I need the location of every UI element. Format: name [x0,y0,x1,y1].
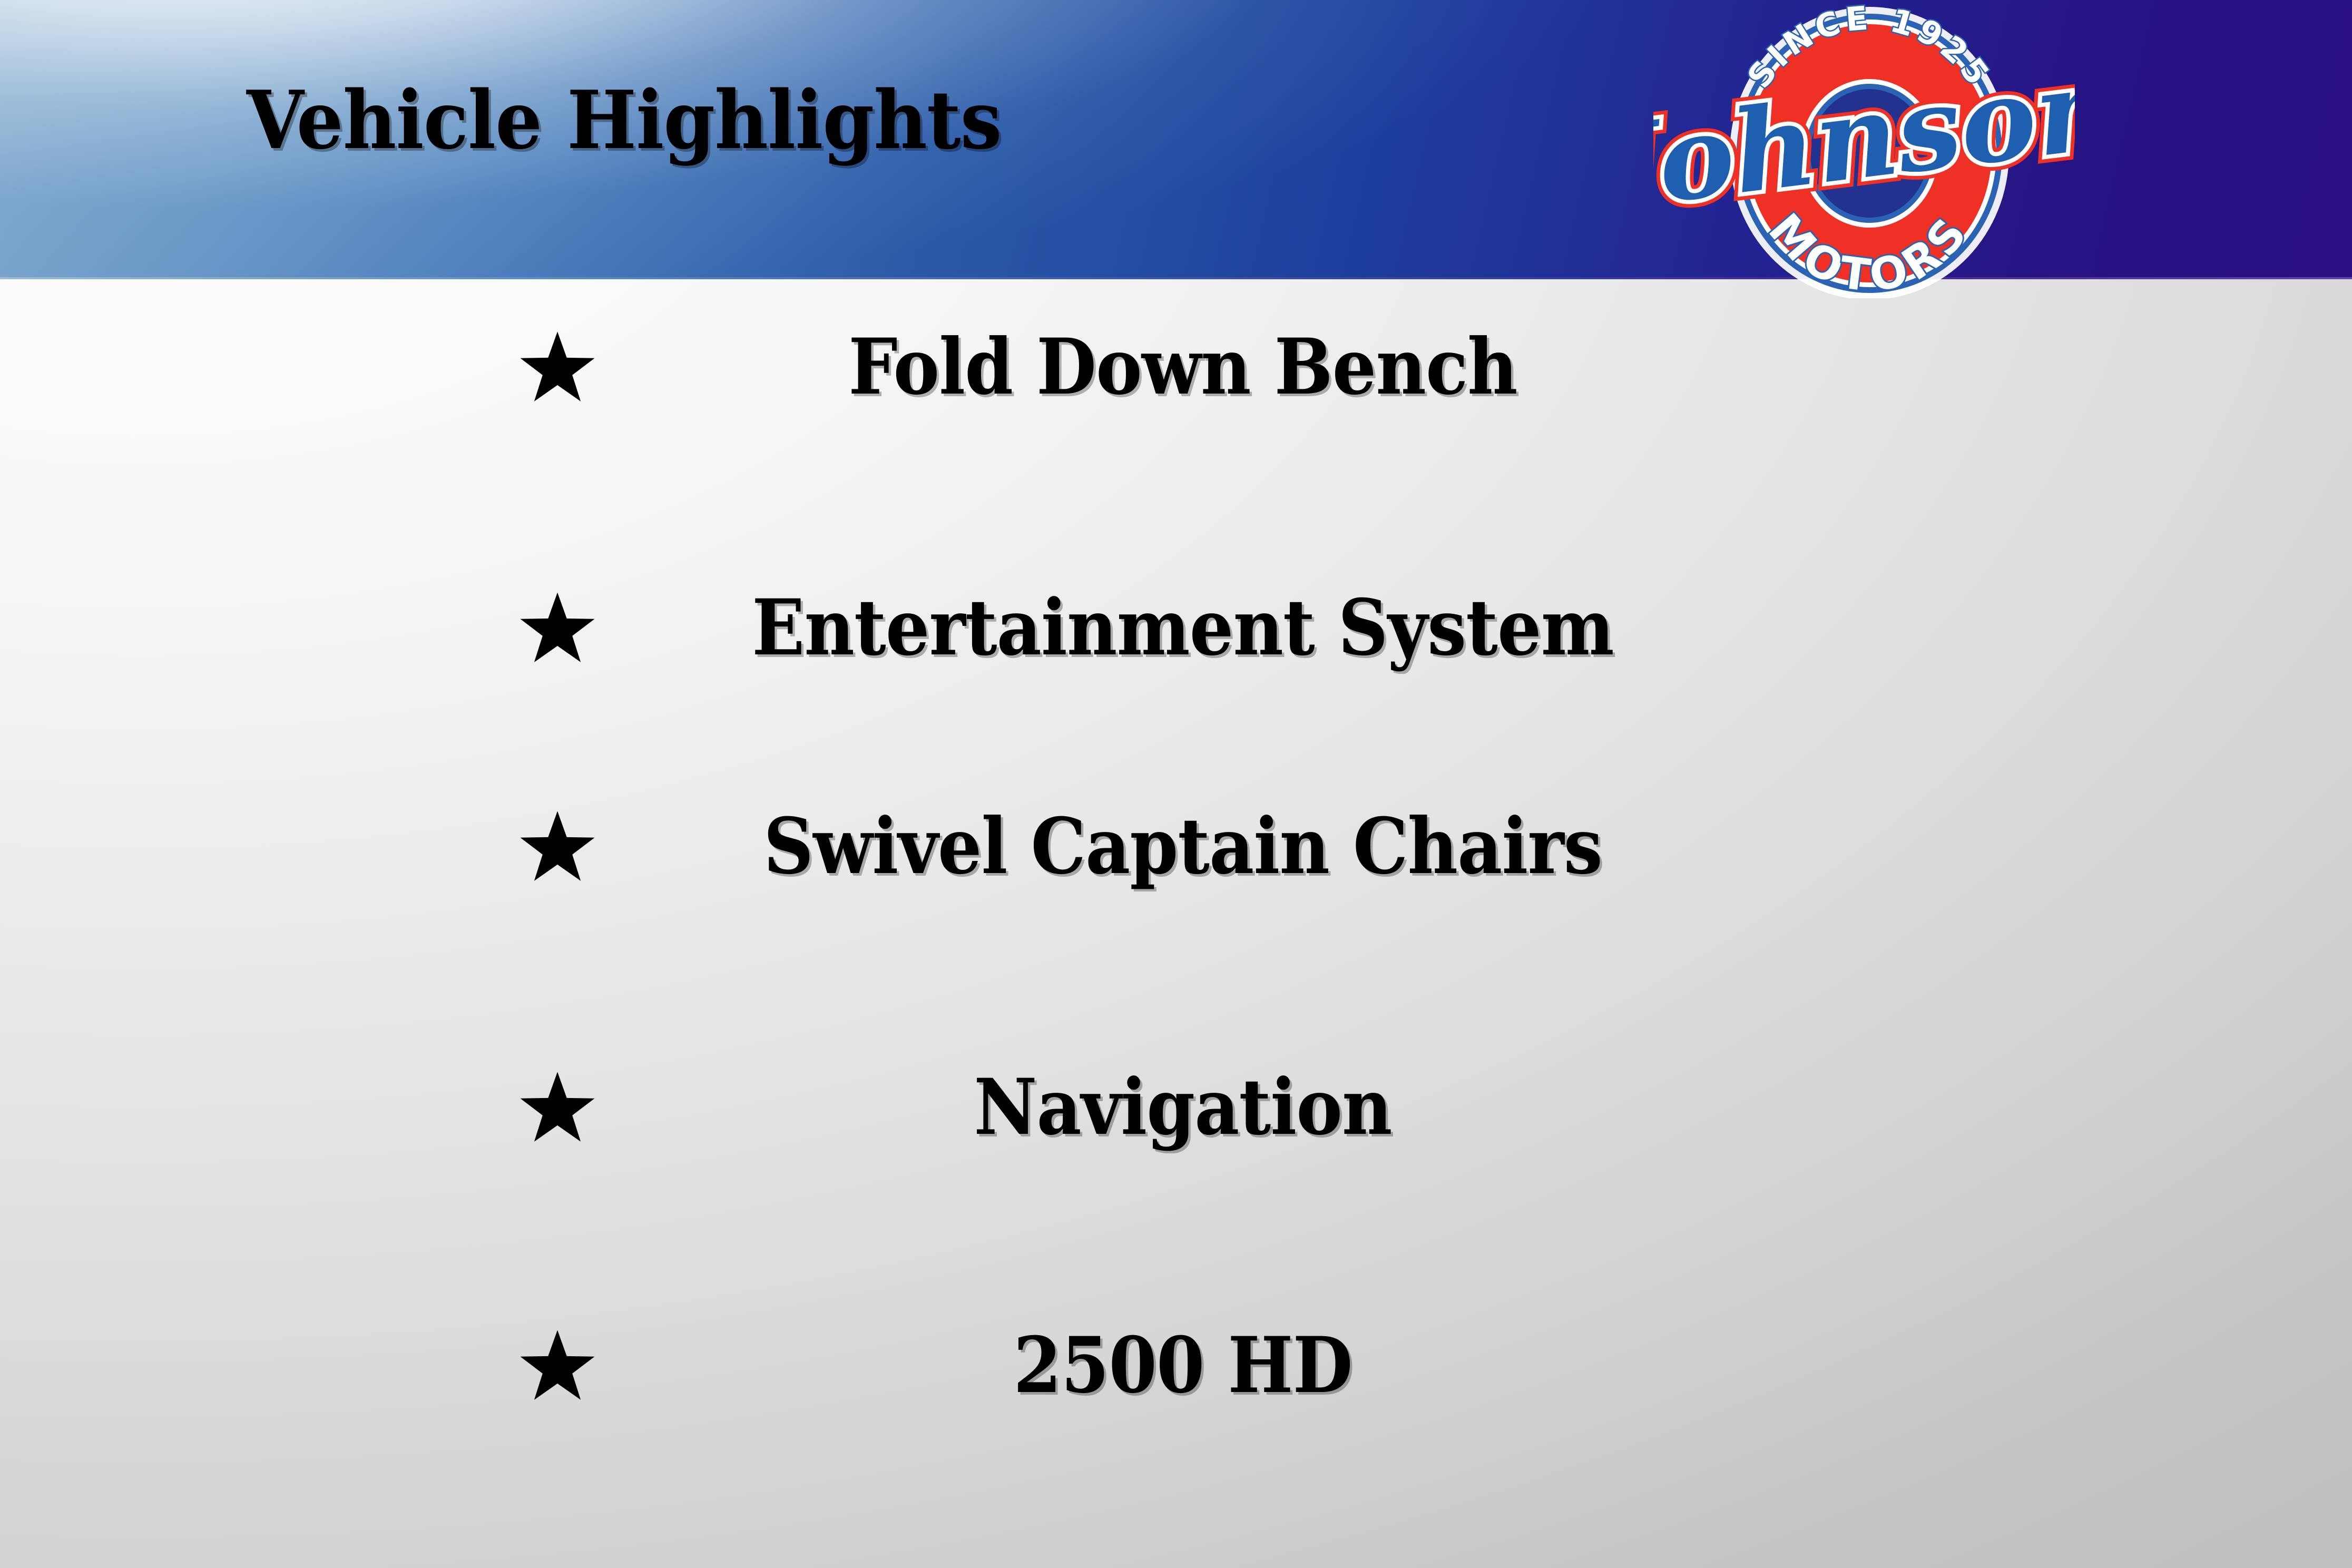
star-icon [518,1328,597,1407]
star-icon [518,809,597,888]
page-title: Vehicle Highlights [247,80,1002,160]
list-item-label: Entertainment System [709,586,1657,671]
list-item-label: Navigation [709,1065,1657,1150]
highlights-list: Fold Down Bench Entertainment System Swi… [0,279,2352,1568]
star-icon [518,590,597,669]
list-item: Navigation [0,1070,2352,1175]
list-item-label: 2500 HD [709,1324,1657,1408]
list-item: Fold Down Bench [0,329,2352,435]
list-item: 2500 HD [0,1328,2352,1433]
list-item: Entertainment System [0,590,2352,695]
star-icon [518,329,597,408]
star-icon [518,1070,597,1149]
list-item-label: Fold Down Bench [709,325,1657,410]
list-item: Swivel Captain Chairs [0,809,2352,914]
list-item-label: Swivel Captain Chairs [709,805,1657,889]
slide-canvas: Vehicle Highlights SINCE 1925 [0,0,2352,1568]
johnson-motors-logo: SINCE 1925 MOTORS Johnson Johnson Johnso… [1653,3,2075,298]
